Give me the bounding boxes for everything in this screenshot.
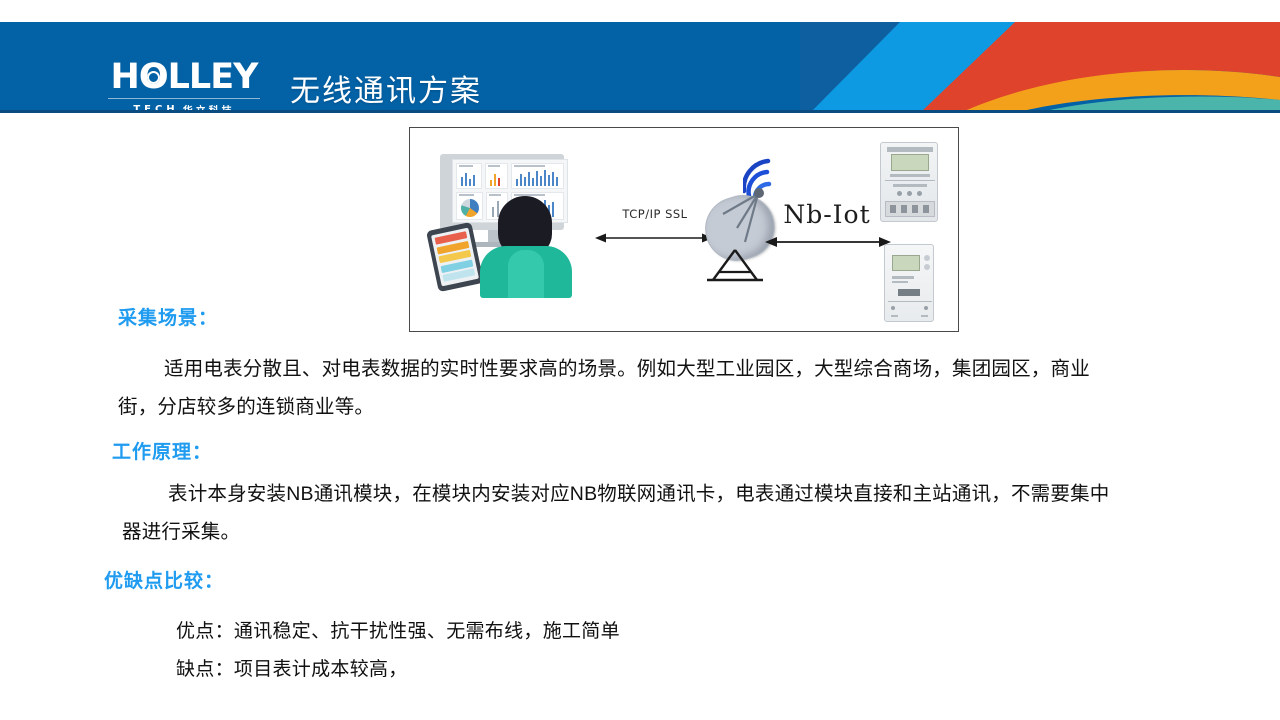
swoosh-svg [800, 22, 1280, 113]
header-underline [0, 110, 1280, 113]
topology-figure-inner: TCP/IP SSL [410, 128, 958, 331]
tablet-screen [431, 228, 479, 287]
slide-root: HOLLEY TECH 华立科技 无线通讯方案 [0, 0, 1280, 720]
logo-letter-h: H [111, 57, 139, 97]
meter-indicator-dot [907, 191, 912, 196]
meter-barcode [898, 289, 920, 296]
section-body-working-principle: 表计本身安装NB通讯模块，在模块内安装对应NB物联网通讯卡，电表通过模块直接和主… [122, 475, 1212, 551]
section-heading-working-principle: 工作原理： [112, 437, 212, 464]
dashboard-card [485, 163, 509, 189]
meter-label-strip [892, 281, 908, 283]
section-body-collection-scenario: 适用电表分散且、对电表数据的实时性要求高的场景。例如大型工业园区，大型综合商场，… [118, 350, 1208, 426]
paragraph-line: 器进行采集。 [122, 521, 240, 543]
card-title-line [489, 194, 501, 196]
meter-indicator-dot [897, 191, 902, 196]
meter-terminal-slot [901, 205, 907, 213]
card-bar [520, 174, 522, 186]
card-bar [552, 202, 554, 217]
meter-terminal-slot [912, 205, 918, 213]
meter-button [924, 264, 930, 270]
meter-button [924, 255, 930, 261]
meter-text-strip [893, 184, 927, 187]
logo-letters-rest: LLEY [168, 57, 258, 97]
card-bar [544, 170, 546, 186]
card-bar [461, 177, 463, 186]
dashboard-row-top [456, 163, 564, 189]
card-bar [498, 178, 500, 186]
meter-screw [924, 306, 928, 310]
card-bar [469, 179, 471, 186]
card-bar [516, 179, 518, 186]
holley-logo: HOLLEY TECH 华立科技 [104, 62, 264, 113]
card-bar [492, 207, 494, 217]
person-torso [480, 246, 572, 298]
card-bar [490, 180, 492, 186]
pie-chart-icon [461, 199, 479, 217]
card-bar [528, 172, 530, 186]
meter-lcd-display [891, 154, 929, 171]
card-bar [552, 172, 554, 186]
card-bar [532, 178, 534, 186]
card-title-line [514, 165, 545, 167]
electric-meter-top [880, 142, 938, 222]
logo-wordmark: HOLLEY [111, 60, 258, 95]
meter-foot-strip [921, 315, 928, 317]
meter-terminal-slot [923, 205, 929, 213]
paragraph-line: 适用电表分散且、对电表数据的实时性要求高的场景。例如大型工业园区，大型综合商场，… [164, 358, 1090, 380]
card-bar [524, 177, 526, 186]
section-heading-collection-scenario: 采集场景： [118, 303, 218, 330]
paragraph-line: 表计本身安装NB通讯模块，在模块内安装对应NB物联网通讯卡，电表通过模块直接和主… [168, 483, 1109, 505]
workstation-illustration [432, 154, 592, 299]
section-heading-pros-cons: 优缺点比较： [104, 566, 224, 593]
meter-label-strip [890, 174, 930, 177]
logo-letter-o: O [139, 60, 168, 95]
nbiot-double-arrow-icon [765, 236, 891, 248]
header-decorative-swoosh [800, 22, 1280, 113]
meter-screw [891, 306, 895, 310]
card-bar [548, 175, 550, 186]
card-bar [473, 175, 475, 186]
card-bar [536, 171, 538, 186]
nbiot-label: Nb-Iot [762, 200, 892, 229]
meter-terminal-slot [890, 205, 896, 213]
header-banner: HOLLEY TECH 华立科技 无线通讯方案 [0, 22, 1280, 113]
card-title-line [488, 165, 501, 167]
meter-lcd-display [892, 255, 920, 271]
paragraph-line: 街，分店较多的连锁商业等。 [118, 396, 374, 418]
pros-line: 优点：通讯稳定、抗干扰性强、无需布线，施工简单 [176, 616, 620, 643]
meter-foot-strip [891, 315, 898, 317]
meter-divider [888, 301, 932, 302]
card-bar [556, 177, 558, 186]
tablet-icon [426, 222, 484, 292]
tcp-label: TCP/IP SSL [600, 207, 710, 221]
meter-indicator-dot [917, 191, 922, 196]
dashboard-card [511, 163, 564, 189]
card-bar [465, 173, 467, 186]
topology-figure: TCP/IP SSL [409, 127, 959, 332]
card-bar [494, 174, 496, 186]
card-title-line [459, 165, 473, 167]
card-bar [540, 176, 542, 186]
page-title: 无线通讯方案 [290, 66, 482, 110]
meter-label-strip [892, 276, 914, 279]
electric-meter-bottom [884, 244, 934, 322]
dashboard-pie-card [456, 192, 483, 220]
dashboard-card [456, 163, 482, 189]
card-title-line [459, 194, 474, 196]
meter-divider [885, 180, 935, 181]
cons-line: 缺点：项目表计成本较高， [176, 654, 408, 681]
meter-top-strip [887, 147, 933, 152]
